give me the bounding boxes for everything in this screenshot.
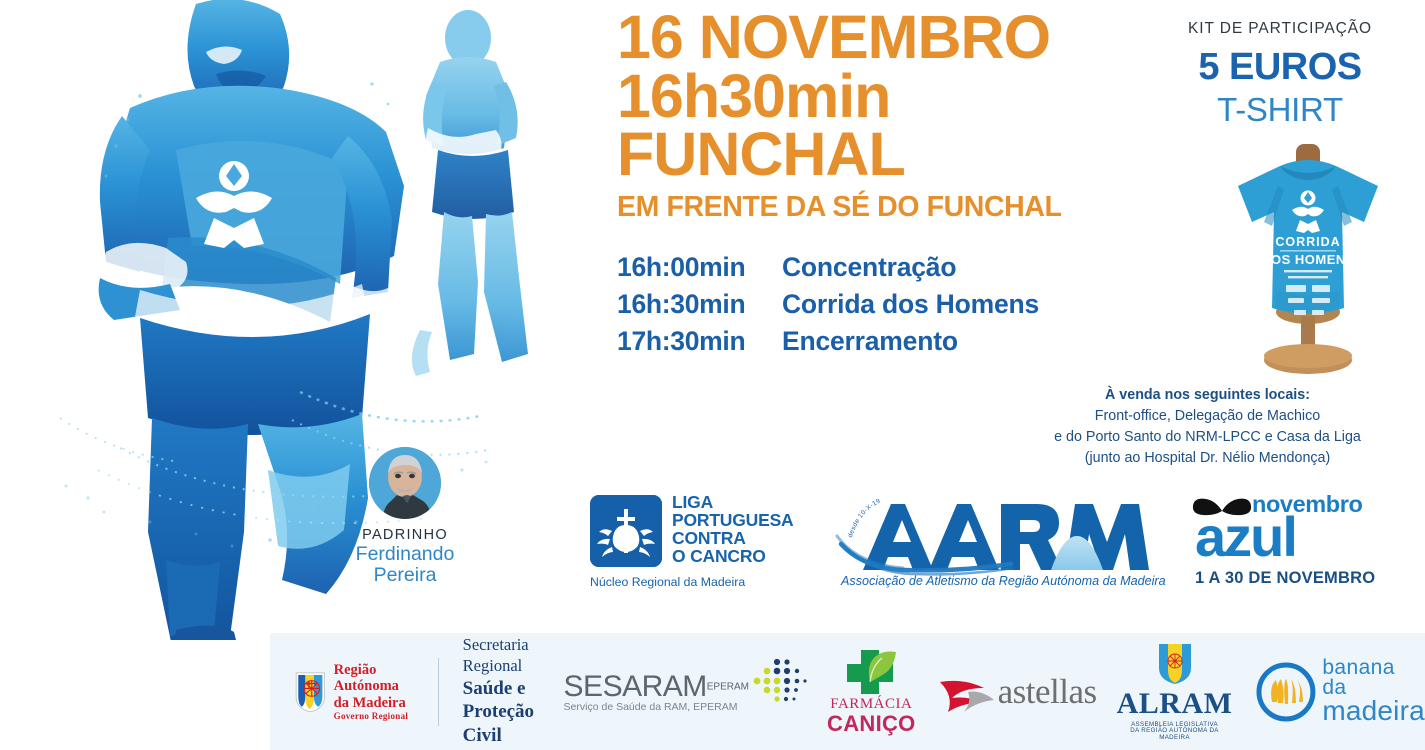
kit-block: KIT DE PARTICIPAÇÃO 5 EUROS T-SHIRT: [1135, 20, 1425, 129]
alram-shield-icon: [1157, 642, 1193, 686]
sesaram-dots-icon: [747, 657, 809, 709]
padrinho-label: PADRINHO: [335, 527, 475, 543]
lpcc-nucleo-label: Núcleo Regional da Madeira: [590, 575, 745, 589]
logo-aaram: desde 10-X-1947 Associação de Atletismo …: [833, 496, 1193, 596]
astellas-wordmark: astellas: [998, 672, 1097, 712]
headline-city: FUNCHAL: [617, 125, 1087, 184]
svg-text:desde 10-X-1947: desde 10-X-1947: [833, 496, 882, 539]
svg-text:CORRIDA: CORRIDA: [1275, 235, 1340, 249]
sales-heading: À venda nos seguintes locais:: [990, 385, 1425, 406]
schedule-row: 16h:30min Corrida dos Homens: [617, 289, 1039, 320]
sponsor-regiao-autonoma-da-madeira: Região Autónoma da Madeira Governo Regio…: [294, 633, 412, 750]
banana-line-2: madeira: [1322, 698, 1425, 725]
sales-line-3: (junto ao Hospital Dr. Nélio Mendonça): [990, 448, 1425, 469]
padrinho-name-line2: Pereira: [335, 565, 475, 586]
sponsor-farmacia-canico: FARMÁCIA CANIÇO: [827, 633, 916, 750]
farmacia-line-1: FARMÁCIA: [827, 697, 916, 713]
padrinho-avatar: [369, 447, 441, 519]
kit-price: 5 EUROS: [1135, 46, 1425, 89]
logo-novembro-azul: novembro azul 1 A 30 DE NOVEMBRO: [1190, 489, 1425, 594]
schedule-event: Corrida dos Homens: [782, 289, 1039, 320]
headline-location: EM FRENTE DA SÉ DO FUNCHAL: [617, 191, 1087, 224]
alram-acronym: ALRAM: [1117, 689, 1233, 719]
poster-canvas: PADRINHO Ferdinando Pereira 16 NOVEMBRO …: [0, 0, 1425, 750]
schedule-event: Concentração: [782, 252, 956, 283]
schedule-row: 17h:30min Encerramento: [617, 326, 1039, 357]
sesaram-subtitle: Serviço de Saúde da RAM, EPERAM: [564, 701, 749, 713]
schedule-list: 16h:00min Concentração 16h:30min Corrida…: [617, 252, 1039, 363]
event-headline: 16 NOVEMBRO 16h30min FUNCHAL EM FRENTE D…: [617, 8, 1087, 224]
lpcc-line-4: O CANCRO: [672, 548, 793, 566]
banana-wordmark: banana da madeira: [1322, 658, 1425, 724]
sponsor-alram: ALRAM ASSEMBLEIA LEGISLATIVA DA REGIÃO A…: [1117, 633, 1233, 750]
organizer-logo-row: LIGA PORTUGUESA CONTRA O CANCRO Núcleo R…: [590, 492, 1425, 602]
svg-text:DOS HOMENS: DOS HOMENS: [1261, 252, 1355, 267]
schedule-time: 16h:00min: [617, 252, 782, 283]
banana-line-1: banana da: [1322, 658, 1425, 698]
padrinho-name: Ferdinando Pereira: [335, 544, 475, 586]
sesaram-superscript: EPERAM: [707, 682, 749, 693]
padrinho-name-line1: Ferdinando: [335, 544, 475, 565]
ram-wordmark: Região Autónoma da Madeira Governo Regio…: [334, 662, 413, 721]
schedule-time: 17h:30min: [617, 326, 782, 357]
ram-line-3: Governo Regional: [334, 711, 413, 721]
lpcc-wordmark: LIGA PORTUGUESA CONTRA O CANCRO: [672, 494, 793, 565]
azul-date-range: 1 A 30 DE NOVEMBRO: [1195, 569, 1375, 588]
headline-date: 16 NOVEMBRO: [617, 8, 1087, 67]
banana-bunch-icon: [1272, 679, 1304, 704]
schedule-row: 16h:00min Concentração: [617, 252, 1039, 283]
astellas-star-icon: [938, 670, 996, 714]
tshirt-mannequin: CORRIDA DOS HOMENS: [1208, 140, 1408, 385]
secondary-runner: [412, 10, 528, 376]
pharmacy-cross-icon: [840, 648, 902, 694]
ram-line-1: Região Autónoma: [334, 662, 413, 694]
sales-line-2: e do Porto Santo do NRM-LPCC e Casa da L…: [990, 427, 1425, 448]
aaram-caption: Associação de Atletismo da Região Autóno…: [841, 574, 1166, 588]
lpcc-line-3: CONTRA: [672, 530, 793, 548]
sponsor-astellas: astellas: [938, 633, 1097, 750]
aaram-letters: [863, 504, 1149, 570]
secretaria-line-1: Secretaria Regional: [463, 635, 538, 676]
logo-liga-portuguesa-contra-o-cancro: LIGA PORTUGUESA CONTRA O CANCRO Núcleo R…: [590, 495, 805, 600]
kit-title: KIT DE PARTICIPAÇÃO: [1135, 20, 1425, 38]
madeira-coat-of-arms-icon: [294, 663, 327, 721]
sponsor-secretaria-regional: Secretaria Regional Saúde e Proteção Civ…: [463, 633, 538, 750]
sponsor-bar: Região Autónoma da Madeira Governo Regio…: [270, 633, 1425, 750]
schedule-time: 16h:30min: [617, 289, 782, 320]
secretaria-line-2: Saúde e Proteção Civil: [463, 677, 538, 748]
schedule-event: Encerramento: [782, 326, 958, 357]
lpcc-line-2: PORTUGUESA: [672, 512, 793, 530]
banana-circle-icon: [1256, 662, 1316, 722]
sponsor-sesaram: SESARAMEPERAM Serviço de Saúde da RAM, E…: [564, 633, 809, 750]
sponsor-banana-da-madeira: banana da madeira: [1256, 633, 1425, 750]
padrinho-block: PADRINHO Ferdinando Pereira: [335, 447, 475, 586]
runner-artwork: [0, 0, 565, 640]
kit-item: T-SHIRT: [1135, 91, 1425, 129]
headline-time: 16h30min: [617, 67, 1087, 126]
sales-line-1: Front-office, Delegação de Machico: [990, 406, 1425, 427]
alram-sub-2: DA REGIÃO AUTÓNOMA DA MADEIRA: [1117, 728, 1233, 740]
farmacia-line-2: CANIÇO: [827, 712, 916, 735]
sesaram-wordmark: SESARAM: [564, 670, 707, 703]
sales-locations: À venda nos seguintes locais: Front-offi…: [990, 385, 1425, 469]
ram-line-2: da Madeira: [334, 695, 413, 711]
azul-word-big: azul: [1195, 509, 1296, 565]
lpcc-mark-icon: [590, 495, 662, 567]
